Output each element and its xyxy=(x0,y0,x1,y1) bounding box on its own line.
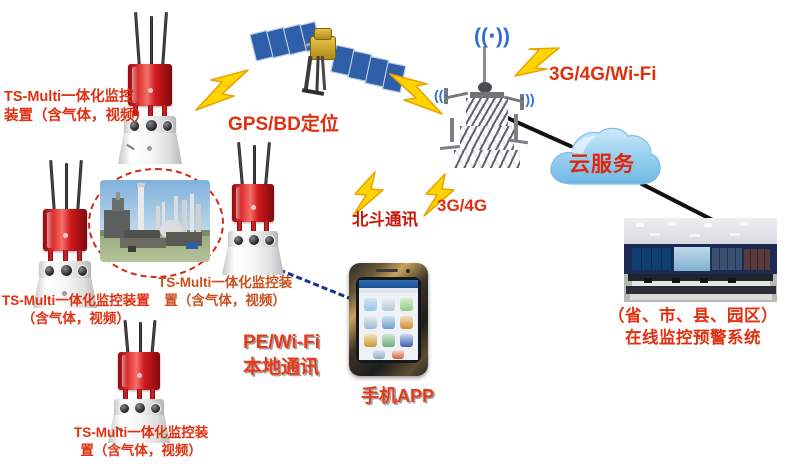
sensor-port-icon xyxy=(150,403,161,414)
wireless-bolt-icon xyxy=(382,72,446,118)
sensor-port-icon xyxy=(119,403,130,414)
status-bar xyxy=(359,280,418,288)
antenna-icon xyxy=(264,142,271,186)
app-icon[interactable] xyxy=(373,350,385,359)
cell-tower-icon: ((⋅)) ((⋅ ⋅)) xyxy=(432,14,538,170)
device-body xyxy=(43,209,87,251)
label-device-mid-right: TS-Multi一体化监控装 置（含气体，视频） xyxy=(158,274,292,310)
antenna-icon xyxy=(134,12,141,68)
label-device-top-left: TS-Multi一体化监控 装置（含气体，视频） xyxy=(4,88,149,126)
device-cone-base xyxy=(222,247,284,275)
sensor-port-icon xyxy=(264,235,275,246)
label-control-center: （省、市、县、园区） 在线监控预警系统 xyxy=(608,306,778,350)
wireless-bolt-icon xyxy=(192,68,256,114)
speaker-icon xyxy=(376,269,398,272)
refinery-photo xyxy=(100,180,210,262)
device-body xyxy=(118,352,160,390)
device-indicator xyxy=(63,233,68,238)
app-icon[interactable] xyxy=(382,298,395,311)
sensor-port-icon xyxy=(248,234,260,246)
label-3g4g-wifi: 3G/4G/Wi-Fi xyxy=(549,62,657,87)
app-icon[interactable] xyxy=(400,298,413,311)
label-local-comm: PE/Wi-Fi 本地通讯 xyxy=(243,330,320,380)
device-body xyxy=(232,184,274,222)
sensor-port-icon xyxy=(44,265,55,277)
app-icon[interactable] xyxy=(364,298,377,311)
label-device-mid-left: TS-Multi一体化监控装置 （含气体，视频） xyxy=(2,292,150,328)
sensor-port-icon xyxy=(77,265,88,277)
app-icon[interactable] xyxy=(392,350,404,359)
app-icon[interactable] xyxy=(400,316,413,329)
diagram-canvas: ((⋅)) ((⋅ ⋅)) xyxy=(0,0,797,464)
app-icon[interactable] xyxy=(400,334,413,347)
app-icon[interactable] xyxy=(382,334,395,347)
label-beidou: 北斗通讯 xyxy=(352,210,418,232)
antenna-icon xyxy=(150,16,153,68)
antenna-icon xyxy=(253,145,256,186)
signal-wave-icon: ⋅)) xyxy=(520,92,535,106)
antenna-icon xyxy=(161,12,168,68)
antenna-icon xyxy=(151,320,157,354)
label-device-bottom: TS-Multi一体化监控装 置（含气体，视频） xyxy=(74,424,208,460)
device-indicator xyxy=(137,373,142,378)
label-phone-app: 手机APP xyxy=(361,385,434,409)
antenna-icon xyxy=(65,163,68,212)
rugged-handheld-device[interactable] xyxy=(349,263,428,376)
cloud-service-node[interactable]: 云服务 xyxy=(545,122,665,192)
signal-wave-icon: ((⋅)) xyxy=(474,26,510,47)
sensor-port-icon xyxy=(60,264,73,277)
app-icon[interactable] xyxy=(364,334,377,347)
monitoring-device-bottom[interactable] xyxy=(98,320,182,430)
app-icon[interactable] xyxy=(364,316,377,329)
antenna-icon xyxy=(237,142,244,186)
camera-icon xyxy=(406,269,410,273)
antenna-icon xyxy=(76,160,83,212)
label-3g4g: 3G/4G xyxy=(437,195,487,217)
title-bar xyxy=(359,288,418,293)
control-room-photo xyxy=(624,218,777,302)
label-gps: GPS/BD定位 xyxy=(228,112,339,137)
sensor-port-icon xyxy=(233,235,244,246)
app-icon[interactable] xyxy=(382,316,395,329)
device-base-dot xyxy=(147,146,152,151)
sensor-port-icon xyxy=(134,402,146,414)
device-indicator xyxy=(251,205,256,210)
sensor-port-icon xyxy=(162,120,173,132)
app-screen[interactable] xyxy=(359,280,418,360)
monitoring-device-mid-right[interactable] xyxy=(212,142,296,272)
antenna-icon xyxy=(49,160,56,212)
cloud-label: 云服务 xyxy=(569,148,635,178)
